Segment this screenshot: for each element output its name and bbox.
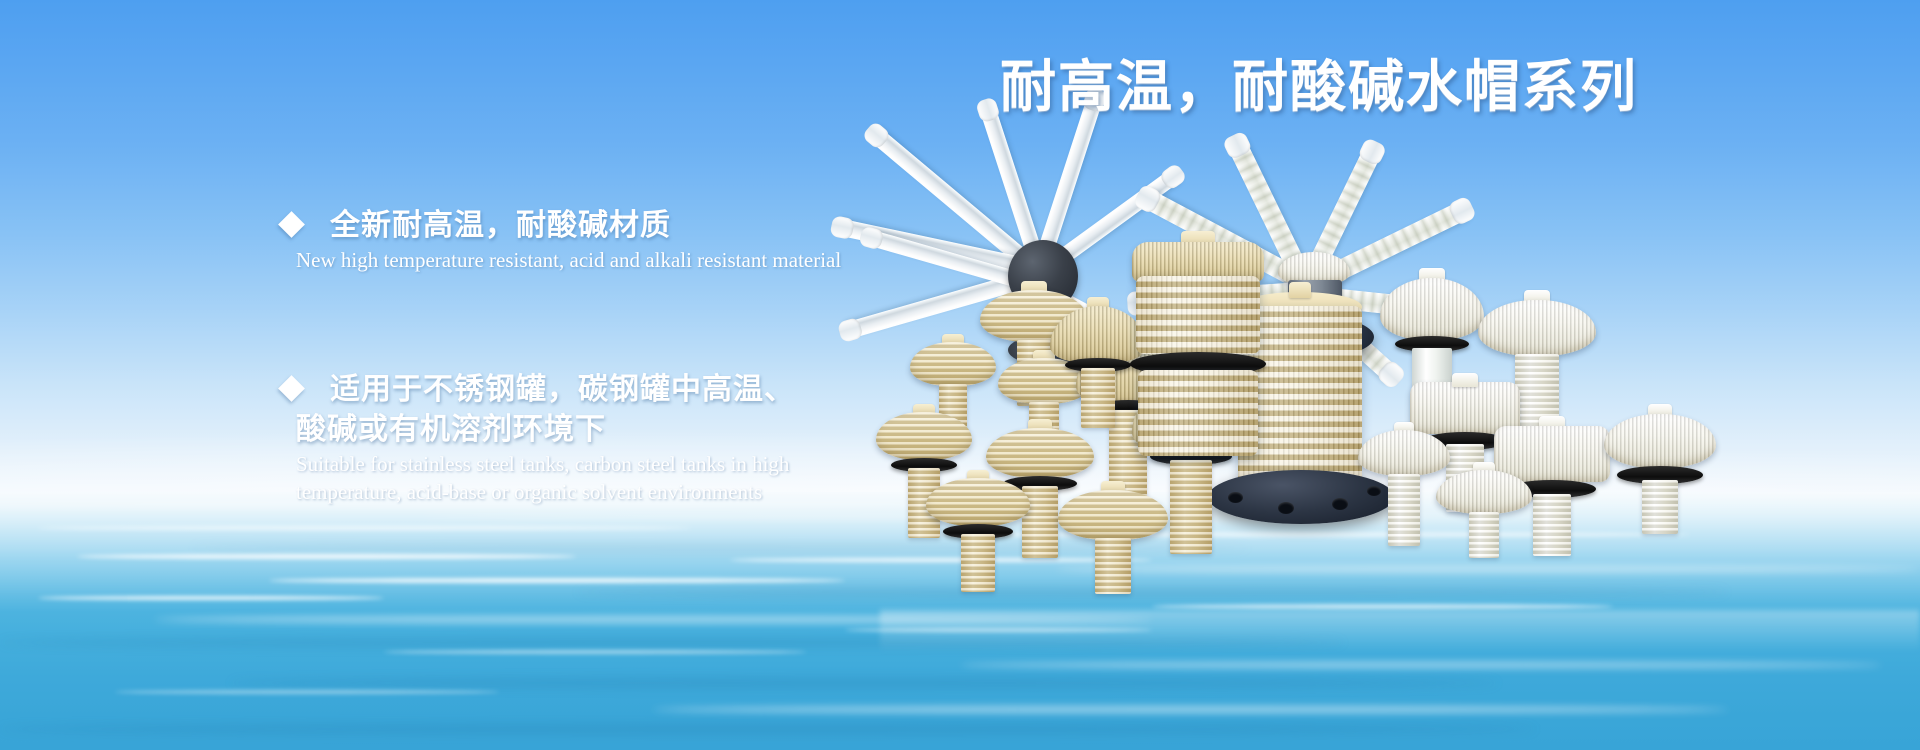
feature-2-title-cn-line1: 适用于不锈钢罐，碳钢罐中高温、 xyxy=(330,370,1022,410)
feature-bullet-2: 适用于不锈钢罐，碳钢罐中高温、 酸碱或有机溶剂环境下 Suitable for … xyxy=(282,370,1022,506)
page-title: 耐高温，耐酸碱水帽系列 xyxy=(1000,58,1638,118)
feature-2-title-en-line2: temperature, acid-base or organic solven… xyxy=(296,479,1022,506)
nozzle-ivory-7 xyxy=(1436,470,1532,514)
nozzle-ivory-1 xyxy=(1380,278,1484,340)
feature-bullet-list: 全新耐高温，耐酸碱材质 New high temperature resista… xyxy=(282,206,1022,507)
nozzle-ivory-2 xyxy=(1478,300,1596,356)
nozzle-cream-7 xyxy=(1058,490,1168,540)
diamond-bullet-icon xyxy=(278,375,305,402)
feature-1-title-cn: 全新耐高温，耐酸碱材质 xyxy=(330,206,1022,246)
nozzle-barrel-cream xyxy=(1132,242,1264,282)
feature-2-title-en-line1: Suitable for stainless steel tanks, carb… xyxy=(296,451,1022,478)
nozzle-dome-2 xyxy=(1050,306,1146,362)
feature-1-title-en: New high temperature resistant, acid and… xyxy=(296,247,1022,274)
product-cluster xyxy=(880,130,1920,650)
product-water-reflection xyxy=(880,610,1920,652)
feature-2-title-cn-line2: 酸碱或有机溶剂环境下 xyxy=(296,410,1022,450)
nozzle-ivory-6 xyxy=(1604,414,1716,468)
product-banner: 耐高温，耐酸碱水帽系列 全新耐高温，耐酸碱材质 New high tempera… xyxy=(0,0,1920,750)
diamond-bullet-icon xyxy=(278,211,305,238)
feature-bullet-1: 全新耐高温，耐酸碱材质 New high temperature resista… xyxy=(282,206,1022,274)
